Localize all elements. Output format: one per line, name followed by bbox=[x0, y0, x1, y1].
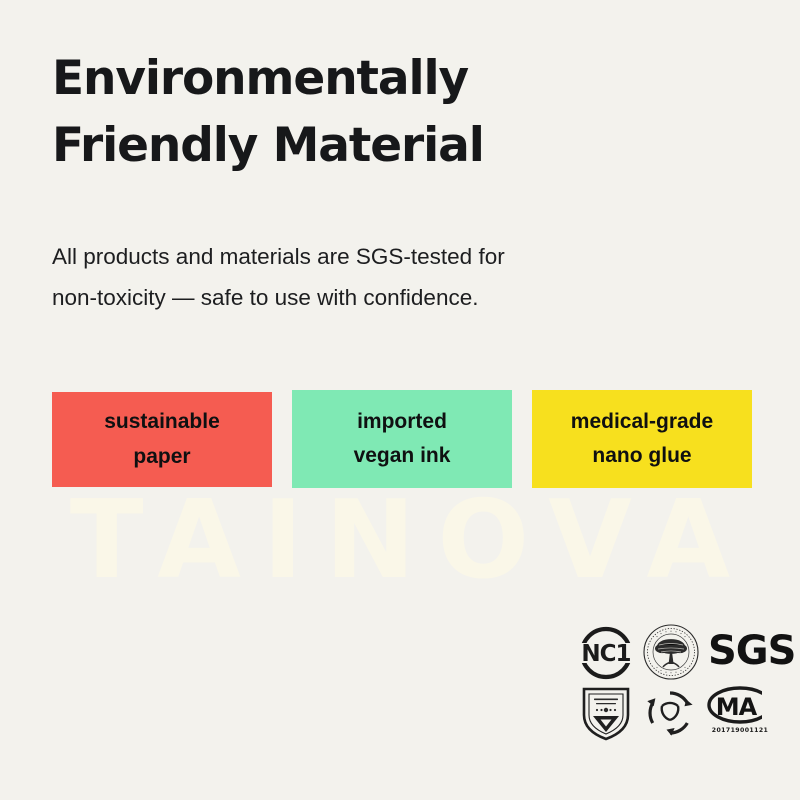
page-title: Environmentally Friendly Material bbox=[52, 46, 692, 179]
subcopy-line-2: non-toxicity — safe to use with confiden… bbox=[52, 277, 652, 318]
nc1-circle-badge-icon: NC1 bbox=[578, 625, 634, 681]
subcopy: All products and materials are SGS-teste… bbox=[52, 236, 652, 319]
forest-tree-seal-icon bbox=[642, 623, 700, 681]
chip-medical-grade-nano-glue: medical-grade nano glue bbox=[532, 390, 752, 488]
headline-line-1: Environmentally bbox=[52, 46, 692, 113]
sgs-logo-icon: SGS bbox=[708, 631, 795, 671]
chip-0-line-1: sustainable bbox=[104, 405, 220, 439]
headline-line-2: Friendly Material bbox=[52, 113, 692, 180]
svg-text:NC1: NC1 bbox=[581, 641, 630, 667]
subcopy-line-1: All products and materials are SGS-teste… bbox=[52, 236, 652, 277]
chip-1-line-1: imported bbox=[357, 405, 447, 439]
shield-chevron-badge-icon bbox=[580, 685, 632, 741]
chip-imported-vegan-ink: imported vegan ink bbox=[292, 390, 512, 488]
chip-sustainable-paper: sustainable paper bbox=[52, 392, 272, 487]
chip-2-line-1: medical-grade bbox=[571, 405, 713, 439]
poster-canvas: TAINOVA Environmentally Friendly Materia… bbox=[0, 0, 800, 800]
chip-1-line-2: vegan ink bbox=[354, 439, 451, 473]
sgs-logo-label: SGS bbox=[708, 631, 795, 671]
recycle-arrows-icon bbox=[642, 686, 698, 740]
svg-text:MA: MA bbox=[716, 693, 758, 721]
material-chip-row: sustainable paper imported vegan ink med… bbox=[52, 390, 752, 490]
brand-watermark: TAINOVA bbox=[0, 487, 800, 595]
cma-certificate-number: 201719001121 bbox=[706, 727, 774, 734]
chip-0-line-2: paper bbox=[133, 440, 190, 474]
cma-badge-icon: MA 201719001121 bbox=[706, 686, 774, 734]
certification-badge-grid: NC1 bbox=[578, 623, 774, 743]
chip-2-line-2: nano glue bbox=[592, 439, 691, 473]
